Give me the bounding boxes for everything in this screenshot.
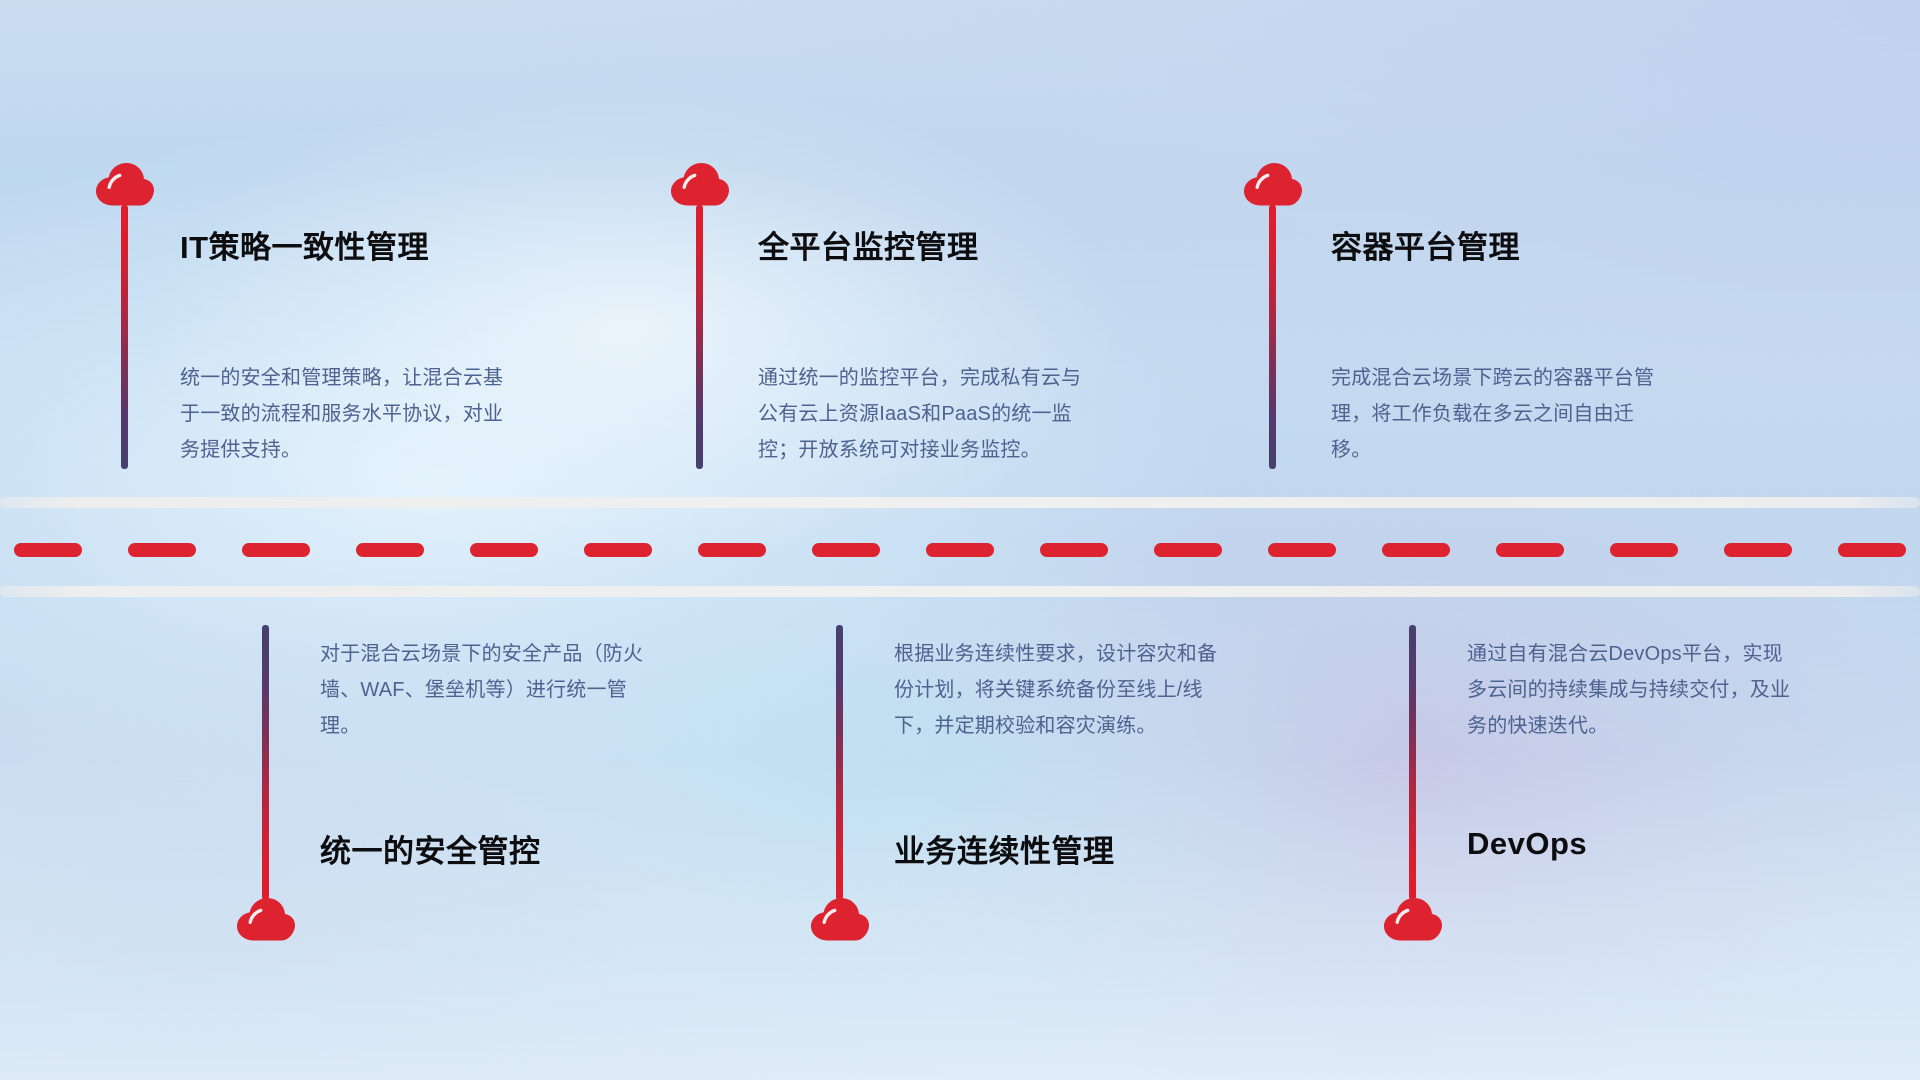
- description-devops: 通过自有混合云DevOps平台，实现多云间的持续集成与持续交付，及业务的快速迭代…: [1467, 636, 1797, 744]
- heading-unified-security: 统一的安全管控: [320, 826, 541, 871]
- divider-dash: [1268, 543, 1336, 557]
- connector-stem: [121, 205, 128, 469]
- infographic-canvas: IT策略一致性管理 统一的安全和管理策略，让混合云基于一致的流程和服务水平协议，…: [0, 0, 1920, 1080]
- red-cloud-icon: [810, 895, 870, 943]
- divider-dash: [128, 543, 196, 557]
- divider-dash: [1382, 543, 1450, 557]
- divider-dash: [1496, 543, 1564, 557]
- connector-stem: [1409, 625, 1416, 900]
- connector-stem: [696, 205, 703, 469]
- connector-stem: [836, 625, 843, 900]
- description-business-continuity: 根据业务连续性要求，设计容灾和备份计划，将关键系统备份至线上/线下，并定期校验和…: [894, 636, 1224, 744]
- heading-business-continuity: 业务连续性管理: [894, 826, 1115, 871]
- divider-dash: [1040, 543, 1108, 557]
- red-cloud-icon: [1243, 160, 1303, 208]
- divider-dash: [1610, 543, 1678, 557]
- divider-dashed-line: [0, 543, 1920, 557]
- divider-dash: [356, 543, 424, 557]
- heading-devops: DevOps: [1467, 826, 1587, 862]
- divider-dash: [1154, 543, 1222, 557]
- connector-stem: [262, 625, 269, 900]
- red-cloud-icon: [1383, 895, 1443, 943]
- red-cloud-icon: [236, 895, 296, 943]
- divider-rail-top: [0, 497, 1920, 508]
- divider-dash: [242, 543, 310, 557]
- heading-it-policy-consistency: IT策略一致性管理: [180, 222, 429, 267]
- red-cloud-icon: [670, 160, 730, 208]
- heading-container-platform: 容器平台管理: [1331, 222, 1520, 267]
- divider-dash: [1838, 543, 1906, 557]
- divider-dash: [470, 543, 538, 557]
- divider-dash: [14, 543, 82, 557]
- divider-dash: [1724, 543, 1792, 557]
- divider-dash: [926, 543, 994, 557]
- description-full-platform-monitoring: 通过统一的监控平台，完成私有云与公有云上资源IaaS和PaaS的统一监控；开放系…: [758, 360, 1088, 468]
- heading-full-platform-monitoring: 全平台监控管理: [758, 222, 979, 267]
- divider-dash: [584, 543, 652, 557]
- divider-dash: [698, 543, 766, 557]
- divider-dash: [812, 543, 880, 557]
- divider-rail-bottom: [0, 586, 1920, 597]
- description-it-policy-consistency: 统一的安全和管理策略，让混合云基于一致的流程和服务水平协议，对业务提供支持。: [180, 360, 510, 468]
- description-unified-security: 对于混合云场景下的安全产品（防火墙、WAF、堡垒机等）进行统一管理。: [320, 636, 650, 744]
- red-cloud-icon: [95, 160, 155, 208]
- connector-stem: [1269, 205, 1276, 469]
- description-container-platform: 完成混合云场景下跨云的容器平台管理，将工作负载在多云之间自由迁移。: [1331, 360, 1661, 468]
